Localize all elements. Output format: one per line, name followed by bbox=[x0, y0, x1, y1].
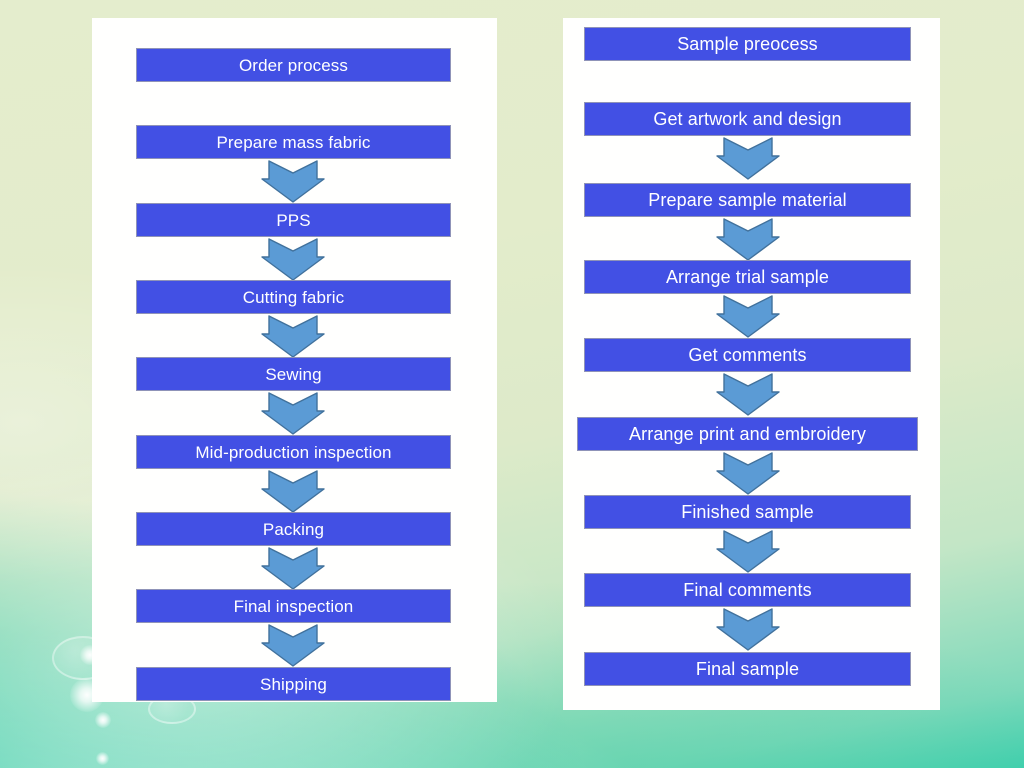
flow-arrow-down-icon bbox=[261, 314, 325, 358]
flow-step-box[interactable]: Sewing bbox=[136, 357, 451, 391]
flow-step-box[interactable]: Cutting fabric bbox=[136, 280, 451, 314]
flow-step-box[interactable]: PPS bbox=[136, 203, 451, 237]
flow-step-box[interactable]: Prepare sample material bbox=[584, 183, 911, 217]
flow-step-box[interactable]: Arrange trial sample bbox=[584, 260, 911, 294]
flow-step-box[interactable]: Mid-production inspection bbox=[136, 435, 451, 469]
flow-step-box[interactable]: Sample preocess bbox=[584, 27, 911, 61]
flow-arrow-down-icon bbox=[261, 159, 325, 203]
flow-sample-process: Sample preocess Get artwork and design P… bbox=[563, 18, 940, 710]
flow-arrow-down-icon bbox=[716, 217, 780, 261]
flow-arrow-down-icon bbox=[261, 237, 325, 281]
panel-sample-process: Sample preocess Get artwork and design P… bbox=[563, 18, 940, 710]
flow-step-box[interactable]: Final comments bbox=[584, 573, 911, 607]
flow-arrow-down-icon bbox=[261, 469, 325, 513]
flow-step-box[interactable]: Final inspection bbox=[136, 589, 451, 623]
flow-step-box[interactable]: Arrange print and embroidery bbox=[577, 417, 918, 451]
flow-arrow-down-icon bbox=[716, 451, 780, 495]
flow-step-box[interactable]: Shipping bbox=[136, 667, 451, 701]
flow-arrow-down-icon bbox=[261, 546, 325, 590]
flow-order-process: Order process Prepare mass fabric PPS Cu… bbox=[92, 18, 497, 702]
flow-step-box[interactable]: Final sample bbox=[584, 652, 911, 686]
flow-step-box[interactable]: Finished sample bbox=[584, 495, 911, 529]
flow-step-box[interactable]: Order process bbox=[136, 48, 451, 82]
flow-arrow-down-icon bbox=[716, 372, 780, 416]
flow-step-box[interactable]: Get comments bbox=[584, 338, 911, 372]
flow-step-box[interactable]: Prepare mass fabric bbox=[136, 125, 451, 159]
panel-order-process: Order process Prepare mass fabric PPS Cu… bbox=[92, 18, 497, 702]
flow-arrow-down-icon bbox=[716, 136, 780, 180]
flow-step-box[interactable]: Packing bbox=[136, 512, 451, 546]
flow-arrow-down-icon bbox=[716, 294, 780, 338]
flow-step-box[interactable]: Get artwork and design bbox=[584, 102, 911, 136]
flow-arrow-down-icon bbox=[261, 391, 325, 435]
flow-arrow-down-icon bbox=[261, 623, 325, 667]
flow-arrow-down-icon bbox=[716, 607, 780, 651]
flow-arrow-down-icon bbox=[716, 529, 780, 573]
